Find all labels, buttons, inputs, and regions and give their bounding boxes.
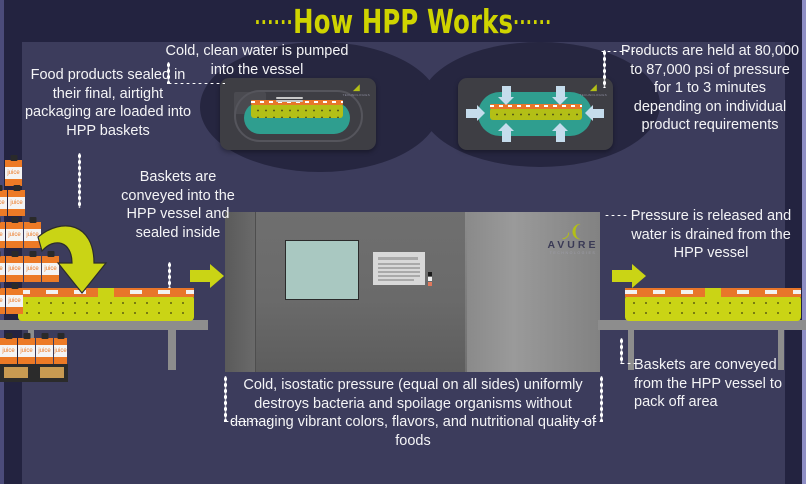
- conveyor-right: [598, 320, 806, 330]
- bottle: juice: [0, 288, 5, 314]
- bottle-cap: [10, 155, 17, 161]
- callout-convey-out: Baskets are conveyed from the HPP vessel…: [634, 356, 802, 412]
- leader-hold-h: [600, 50, 640, 53]
- callout-water: Cold, clean water is pumped into the ves…: [155, 42, 359, 79]
- conveyor-left: [0, 320, 208, 330]
- machine-screen: [285, 240, 359, 300]
- leader-convey-out-v: [620, 338, 623, 364]
- inset1-basket-texture: [251, 104, 343, 118]
- machine-led-dark: [428, 272, 432, 276]
- title-bar: ......How HPP Works......: [0, 0, 806, 42]
- leader-convey-in: [168, 262, 171, 288]
- bottle: juice: [0, 190, 7, 216]
- callout-convey-in: Baskets are conveyed into the HPP vessel…: [118, 168, 238, 242]
- bottle: juice: [0, 338, 17, 364]
- leader-convey-out-h: [620, 362, 636, 365]
- bottle: juice: [6, 256, 23, 282]
- inset1-panel-line-2: [276, 100, 303, 102]
- bottle: juice: [6, 222, 23, 248]
- arrow-right-out-of-vessel: [612, 264, 646, 288]
- bottle: juice: [36, 338, 53, 364]
- machine-divider: [465, 212, 467, 372]
- bottle: juice: [5, 160, 22, 186]
- inset-vessel-pressure: ◢TECHNOLOGIES: [458, 78, 613, 150]
- machine-led-red: [428, 282, 432, 286]
- inset1-panel-line-1: [276, 97, 303, 99]
- leader-iso-right-h: [556, 420, 602, 423]
- callout-isostatic: Cold, isostatic pressure (equal on all s…: [222, 376, 604, 450]
- title-dots-right: ......: [513, 5, 552, 29]
- bottle: juice: [0, 222, 5, 248]
- curved-arrow-load-basket: [32, 215, 112, 300]
- avure-logo: ◞❨ AVURE TECHNOLOGIES: [543, 224, 603, 255]
- inset2-basket-texture: [490, 108, 582, 120]
- leader-release: [604, 214, 628, 217]
- leader-water-h: [167, 82, 225, 85]
- pallet: [0, 364, 68, 382]
- page-title: ......How HPP Works......: [254, 2, 551, 41]
- bottle: juice: [18, 338, 35, 364]
- bottle: juice: [6, 288, 23, 314]
- machine-support-leg: [170, 328, 176, 370]
- bottle: juice: [8, 190, 25, 216]
- avure-fan-icon: ◞❨: [543, 224, 603, 239]
- hpp-machine: ◞❨ AVURE TECHNOLOGIES: [225, 212, 600, 372]
- leader-hold-v: [603, 50, 606, 88]
- leader-iso-right-v: [600, 376, 603, 422]
- title-dots-left: ......: [254, 5, 293, 29]
- inset2-basket: [490, 108, 582, 120]
- basket-outfeed: [625, 295, 801, 321]
- infographic-canvas: ......How HPP Works...... ◢TECHNOLOGIES: [0, 0, 806, 484]
- avure-tagline: TECHNOLOGIES: [543, 251, 603, 255]
- inset1-basket: [251, 104, 343, 118]
- machine-led-white: [428, 277, 432, 281]
- leader-water-v: [167, 62, 170, 84]
- leader-iso-left-v: [224, 376, 227, 422]
- basket-outfeed-texture: [625, 295, 801, 321]
- bottle: juice: [0, 256, 5, 282]
- callout-release: Pressure is released and water is draine…: [622, 207, 800, 263]
- arrow-right-into-vessel: [190, 264, 224, 288]
- callout-hold: Products are held at 80,000 to 87,000 ps…: [620, 42, 800, 135]
- avure-wordmark: AVURE: [543, 239, 603, 251]
- machine-control-panel: [373, 252, 425, 285]
- bottle: juice: [54, 338, 67, 364]
- inset1-avure-mark: ◢TECHNOLOGIES: [343, 83, 370, 99]
- inset-vessel-water: ◢TECHNOLOGIES: [220, 78, 376, 150]
- leader-iso-left-h: [224, 420, 270, 423]
- title-text: How HPP Works: [293, 2, 513, 41]
- leader-load: [78, 153, 81, 208]
- bottle-label: juice: [5, 167, 22, 179]
- right-edge-strip: [802, 0, 806, 484]
